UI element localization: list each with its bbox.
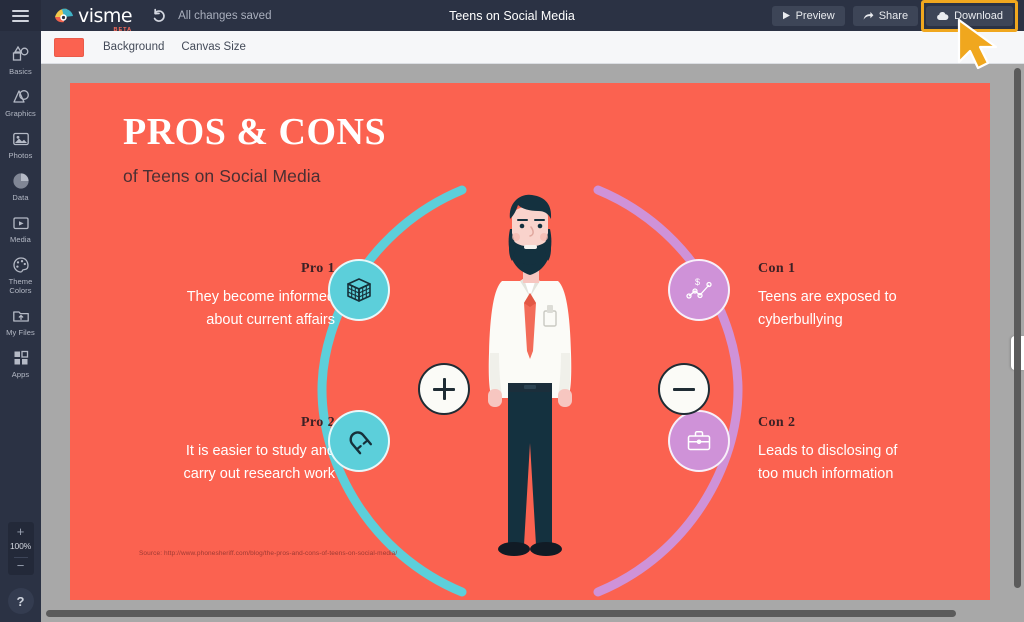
sidebar-item-media[interactable]: Media	[0, 207, 41, 249]
pro-1-kicker: Pro 1	[120, 261, 335, 277]
document-title-text[interactable]: Teens on Social Media	[449, 9, 575, 23]
sidebar-item-basics[interactable]: Basics	[0, 39, 41, 81]
download-button-label: Download	[954, 10, 1003, 22]
pro-1-line-2: about current affairs	[120, 309, 335, 332]
slide-canvas[interactable]: PROS & CONS of Teens on Social Media Pro…	[70, 83, 990, 600]
sidebar-item-photos[interactable]: Photos	[0, 123, 41, 165]
shapes-icon	[11, 87, 30, 106]
slide-title[interactable]: PROS & CONS	[123, 110, 386, 154]
vertical-scrollbar[interactable]	[1014, 68, 1021, 606]
play-icon	[782, 11, 791, 20]
svg-text:$: $	[695, 277, 700, 287]
con-2-text-block[interactable]: Con 2 Leads to disclosing of too much in…	[758, 415, 958, 486]
zoom-in-button[interactable]: +	[17, 526, 25, 538]
pro-2-text-block[interactable]: Pro 2 It is easier to study and carry ou…	[120, 415, 335, 486]
visme-logo-mark-icon	[54, 8, 74, 24]
beta-badge: BETA	[114, 27, 133, 33]
background-label[interactable]: Background	[103, 41, 164, 53]
palette-icon	[11, 255, 30, 274]
top-actions-group: Preview Share Download	[772, 0, 1013, 31]
con-2-line-1: Leads to disclosing of	[758, 440, 958, 463]
undo-arrow-icon	[151, 8, 167, 24]
left-sidebar: Basics Graphics Photos	[0, 31, 41, 622]
undo-button[interactable]	[148, 5, 170, 27]
preview-button[interactable]: Preview	[772, 6, 845, 26]
sidebar-item-data[interactable]: Data	[0, 165, 41, 207]
sidebar-item-apps[interactable]: Apps	[0, 342, 41, 384]
video-icon	[11, 213, 30, 232]
sidebar-item-data-label: Data	[12, 193, 28, 202]
preview-button-label: Preview	[796, 10, 835, 22]
con-1-bubble[interactable]: $	[668, 259, 730, 321]
help-button[interactable]: ?	[8, 588, 34, 614]
hamburger-menu-icon[interactable]	[0, 0, 41, 31]
sidebar-item-graphics-label: Graphics	[5, 109, 36, 118]
canvas-area[interactable]: PROS & CONS of Teens on Social Media Pro…	[41, 64, 1024, 622]
canvas-size-button[interactable]: Canvas Size	[181, 41, 246, 53]
canvas-toolbar: Background Canvas Size	[41, 31, 1024, 64]
sidebar-bottom-controls: + 100% − ?	[0, 522, 41, 614]
plus-badge	[418, 363, 470, 415]
slide-source-note: Source: http://www.phonesheriff.com/blog…	[139, 550, 397, 557]
con-1-line-2: cyberbullying	[758, 309, 958, 332]
horizontal-scrollbar-thumb[interactable]	[46, 610, 956, 617]
zoom-level-value: 100%	[10, 541, 31, 551]
pro-2-line-2: carry out research work	[120, 463, 335, 486]
grid-apps-icon	[11, 348, 30, 367]
share-button-label: Share	[879, 10, 908, 22]
sidebar-item-theme-colors[interactable]: Theme Colors	[0, 249, 41, 300]
con-2-line-2: too much information	[758, 463, 958, 486]
money-line-chart-icon: $	[684, 275, 714, 305]
share-arrow-icon	[863, 11, 874, 21]
pro-2-line-1: It is easier to study and	[120, 440, 335, 463]
save-status-text: All changes saved	[178, 10, 271, 22]
sidebar-item-apps-label: Apps	[12, 370, 30, 379]
minus-badge	[658, 363, 710, 415]
visme-wordmark: visme	[78, 5, 132, 27]
sidebar-item-theme-colors-label: Theme Colors	[0, 277, 41, 295]
pro-2-kicker: Pro 2	[120, 415, 335, 431]
briefcase-icon	[685, 427, 713, 455]
sidebar-item-my-files-label: My Files	[6, 328, 35, 337]
pro-1-line-1: They become informed	[120, 286, 335, 309]
con-2-kicker: Con 2	[758, 415, 958, 431]
visme-logo[interactable]: visme BETA	[54, 5, 132, 27]
plus-icon-vertical	[443, 378, 446, 400]
con-2-bubble[interactable]	[668, 410, 730, 472]
image-icon	[11, 129, 30, 148]
zoom-control: + 100% −	[8, 522, 34, 575]
cloud-download-icon	[936, 11, 949, 21]
background-color-swatch[interactable]	[54, 38, 84, 57]
download-button[interactable]: Download	[926, 6, 1013, 26]
sidebar-item-basics-label: Basics	[9, 67, 32, 76]
pie-chart-icon	[11, 171, 30, 190]
pro-1-bubble[interactable]	[328, 259, 390, 321]
cube-icon	[344, 275, 374, 305]
vertical-scrollbar-thumb[interactable]	[1014, 68, 1021, 588]
minus-icon	[673, 388, 695, 391]
illustration-bearded-man[interactable]	[472, 193, 592, 583]
sidebar-item-media-label: Media	[10, 235, 31, 244]
upload-folder-icon	[11, 306, 30, 325]
top-bar: visme BETA All changes saved Teens on So…	[0, 0, 1024, 31]
magnet-icon	[339, 421, 378, 460]
slide-subtitle[interactable]: of Teens on Social Media	[123, 166, 321, 187]
share-button[interactable]: Share	[853, 6, 918, 26]
zoom-out-button[interactable]: −	[17, 560, 25, 572]
sidebar-item-my-files[interactable]: My Files	[0, 300, 41, 342]
visme-editor-window: visme BETA All changes saved Teens on So…	[0, 0, 1024, 622]
pro-2-bubble[interactable]	[328, 410, 390, 472]
sidebar-item-photos-label: Photos	[9, 151, 33, 160]
pro-1-text-block[interactable]: Pro 1 They become informed about current…	[120, 261, 335, 332]
con-1-kicker: Con 1	[758, 261, 958, 277]
con-1-text-block[interactable]: Con 1 Teens are exposed to cyberbullying	[758, 261, 958, 332]
con-1-line-1: Teens are exposed to	[758, 286, 958, 309]
blocks-icon	[11, 45, 30, 64]
sidebar-item-graphics[interactable]: Graphics	[0, 81, 41, 123]
horizontal-scrollbar[interactable]	[46, 610, 1006, 617]
